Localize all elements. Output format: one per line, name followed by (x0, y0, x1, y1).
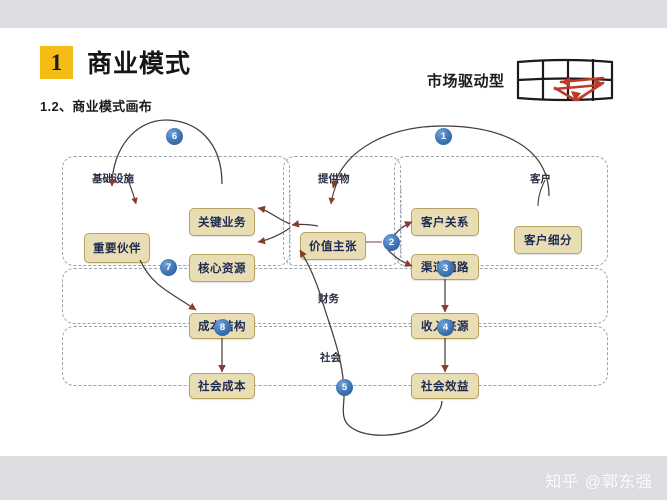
edge-2b (388, 250, 412, 266)
step-badge-7[interactable]: 7 (160, 259, 177, 276)
slide-canvas: 1 商业模式 1.2、商业模式画布 市场驱动型 (0, 28, 667, 456)
step-badge-5[interactable]: 5 (336, 379, 353, 396)
step-badge-1[interactable]: 1 (435, 128, 452, 145)
screenshot-root: 1 商业模式 1.2、商业模式画布 市场驱动型 (0, 0, 667, 500)
edge-6 (112, 120, 222, 186)
edge-5 (300, 250, 442, 435)
edge-spine-activities (258, 208, 290, 224)
top-gray-band (0, 0, 667, 28)
step-badge-8[interactable]: 8 (214, 319, 231, 336)
step-badge-2[interactable]: 2 (383, 234, 400, 251)
leader-customer (538, 180, 545, 206)
edge-spine-in (292, 224, 318, 226)
step-badge-4[interactable]: 4 (437, 319, 454, 336)
watermark: 知乎 @郭东强 (545, 468, 653, 492)
edge-spine-resources (258, 228, 290, 242)
leader-infrastructure (128, 180, 136, 204)
bmc-diagram: 基础设施 提供物 客户 财务 社会 (0, 28, 667, 456)
connector-lines (0, 28, 667, 456)
step-badge-6[interactable]: 6 (166, 128, 183, 145)
step-badge-3[interactable]: 3 (437, 260, 454, 277)
